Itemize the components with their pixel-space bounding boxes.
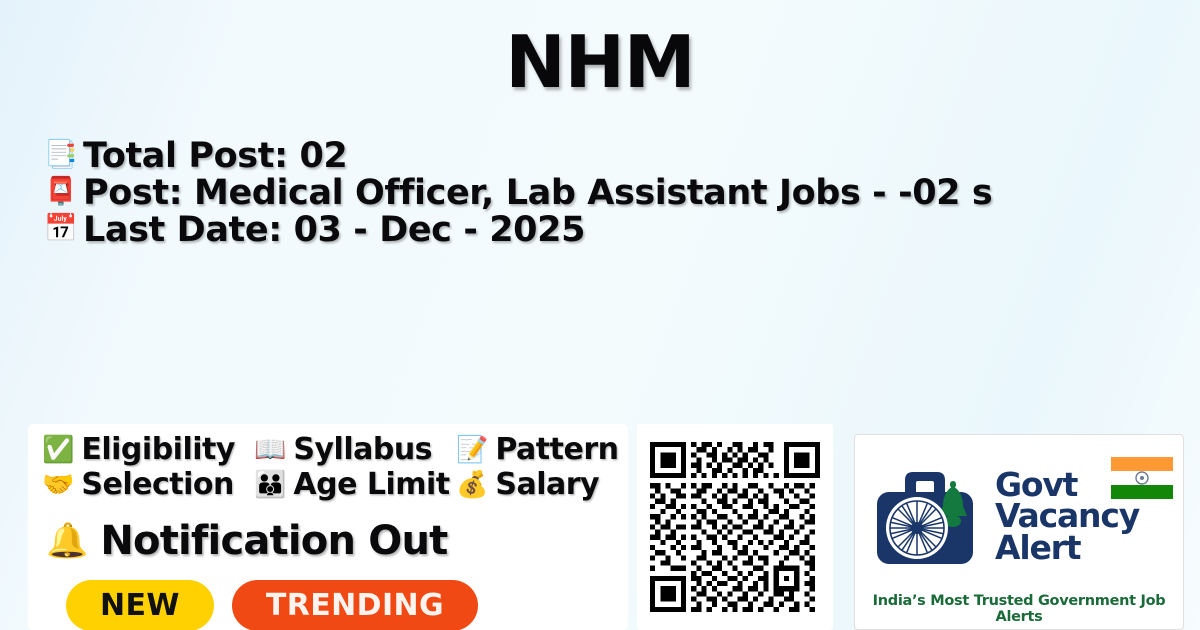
qr-code[interactable] — [650, 442, 820, 612]
feature-salary[interactable]: 💰 Salary — [456, 467, 628, 502]
notification-out-label: Notification Out — [100, 518, 447, 564]
post-names-text: Post: Medical Officer, Lab Assistant Job… — [83, 175, 992, 212]
breaking-news-badge-icon: 📮 — [44, 175, 74, 210]
feature-label: Eligibility — [81, 432, 235, 467]
logo-line-vacancy: Vacancy — [995, 500, 1175, 531]
job-summary-block: 📑 Total Post: 02 📮 Post: Medical Officer… — [0, 138, 1200, 249]
india-flag-icon — [1111, 457, 1173, 499]
qr-code-card[interactable] — [637, 424, 833, 630]
total-post-text: Total Post: 02 — [83, 138, 347, 175]
info-line-post: 📮 Post: Medical Officer, Lab Assistant J… — [44, 175, 1170, 212]
status-badge-new[interactable]: NEW — [66, 580, 214, 630]
feature-label: Salary — [495, 467, 599, 502]
notification-out-row: 🔔 Notification Out — [28, 518, 628, 564]
page-title: NHM — [0, 0, 1200, 98]
info-line-total-post: 📑 Total Post: 02 — [44, 138, 1170, 175]
feature-label: Age Limit — [293, 467, 449, 502]
feature-label: Syllabus — [293, 432, 432, 467]
feature-selection[interactable]: 🤝 Selection — [42, 467, 254, 502]
features-card: ✅ Eligibility 📖 Syllabus 📝 Pattern 🤝 Sel… — [28, 424, 628, 630]
logo-line-alert: Alert — [995, 532, 1175, 563]
hand-selection-icon: 🤝 — [42, 472, 74, 498]
feature-age-limit[interactable]: 👪 Age Limit — [254, 467, 456, 502]
logo-tagline: India’s Most Trusted Government Job Aler… — [863, 593, 1175, 625]
features-grid: ✅ Eligibility 📖 Syllabus 📝 Pattern 🤝 Sel… — [28, 432, 628, 502]
india-flag-svg — [1111, 457, 1173, 499]
feature-eligibility[interactable]: ✅ Eligibility — [42, 432, 254, 467]
job-search-document-icon: 📑 — [44, 138, 74, 173]
status-badge-row: NEW TRENDING — [28, 580, 628, 630]
money-bag-hand-icon: 💰 — [456, 472, 488, 498]
family-people-icon: 👪 — [254, 472, 286, 498]
logo-top-row: Govt Vacancy Alert — [863, 441, 1175, 591]
feature-label: Pattern — [495, 432, 618, 467]
green-check-icon: ✅ — [42, 437, 74, 463]
open-book-pen-icon: 📖 — [254, 437, 286, 463]
brand-logo-card: Govt Vacancy Alert India’s Most Trusted … — [854, 434, 1184, 630]
calendar-icon: 📅 — [44, 212, 74, 247]
exam-paper-pencil-icon: 📝 — [456, 437, 488, 463]
info-line-last-date: 📅 Last Date: 03 - Dec - 2025 — [44, 212, 1170, 249]
last-date-text: Last Date: 03 - Dec - 2025 — [83, 212, 585, 249]
feature-label: Selection — [81, 467, 233, 502]
feature-pattern[interactable]: 📝 Pattern — [456, 432, 628, 467]
feature-syllabus[interactable]: 📖 Syllabus — [254, 432, 456, 467]
logo-mark-svg — [865, 452, 993, 580]
bottom-panels: ✅ Eligibility 📖 Syllabus 📝 Pattern 🤝 Sel… — [0, 424, 1200, 630]
status-badge-trending[interactable]: TRENDING — [232, 580, 478, 630]
notification-bell-icon: 🔔 — [46, 524, 88, 558]
briefcase-bell-ashoka-chakra-icon — [863, 452, 995, 580]
